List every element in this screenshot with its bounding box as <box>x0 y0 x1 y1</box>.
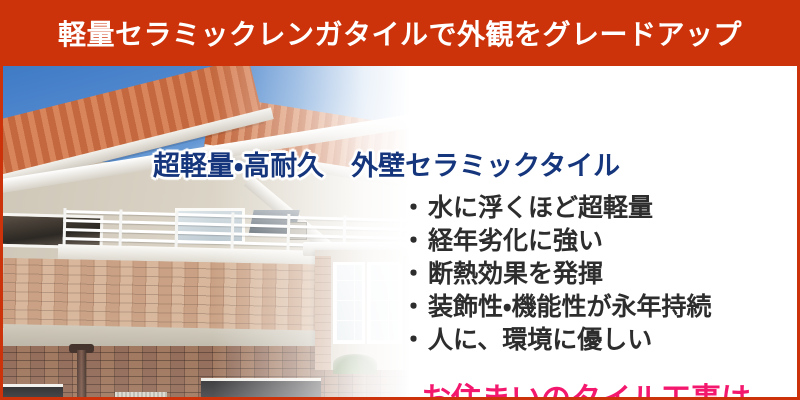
photo-layers <box>3 66 423 397</box>
list-item: ・ 人に、環境に優しい <box>401 324 712 357</box>
header-title: 軽量セラミックレンガタイルで外観をグレードアップ <box>0 0 800 66</box>
promo-banner: 軽量セラミックレンガタイルで外観をグレードアップ <box>0 0 800 400</box>
list-item-label: 装飾性・機能性が永年持続 <box>428 291 712 324</box>
bullet-icon: ・ <box>401 324 426 357</box>
list-item: ・ 経年劣化に強い <box>401 225 712 258</box>
list-item-label: 人に、環境に優しい <box>428 324 652 357</box>
cta-text: お住まいのタイル工事は <box>421 374 751 400</box>
list-item-label: 水に浮くほど超軽量 <box>428 192 653 225</box>
bullet-icon: ・ <box>401 192 426 225</box>
photo-bottom-fade <box>3 66 423 397</box>
subtitle-headline: 超軽量・高耐久 外壁セラミックタイル <box>153 144 620 183</box>
list-item: ・ 水に浮くほど超軽量 <box>401 192 712 225</box>
feature-list: ・ 水に浮くほど超軽量 ・ 経年劣化に強い ・ 断熱効果を発揮 ・ 装飾性・機能… <box>401 192 712 357</box>
bullet-icon: ・ <box>401 291 426 324</box>
bullet-icon: ・ <box>401 258 426 291</box>
banner-body: 超軽量・高耐久 外壁セラミックタイル ・ 水に浮くほど超軽量 ・ 経年劣化に強い… <box>0 66 800 400</box>
list-item-label: 断熱効果を発揮 <box>428 258 603 291</box>
list-item: ・ 断熱効果を発揮 <box>401 258 712 291</box>
house-exterior-photo <box>3 66 423 397</box>
list-item-label: 経年劣化に強い <box>428 225 603 258</box>
bullet-icon: ・ <box>401 225 426 258</box>
list-item: ・ 装飾性・機能性が永年持続 <box>401 291 712 324</box>
